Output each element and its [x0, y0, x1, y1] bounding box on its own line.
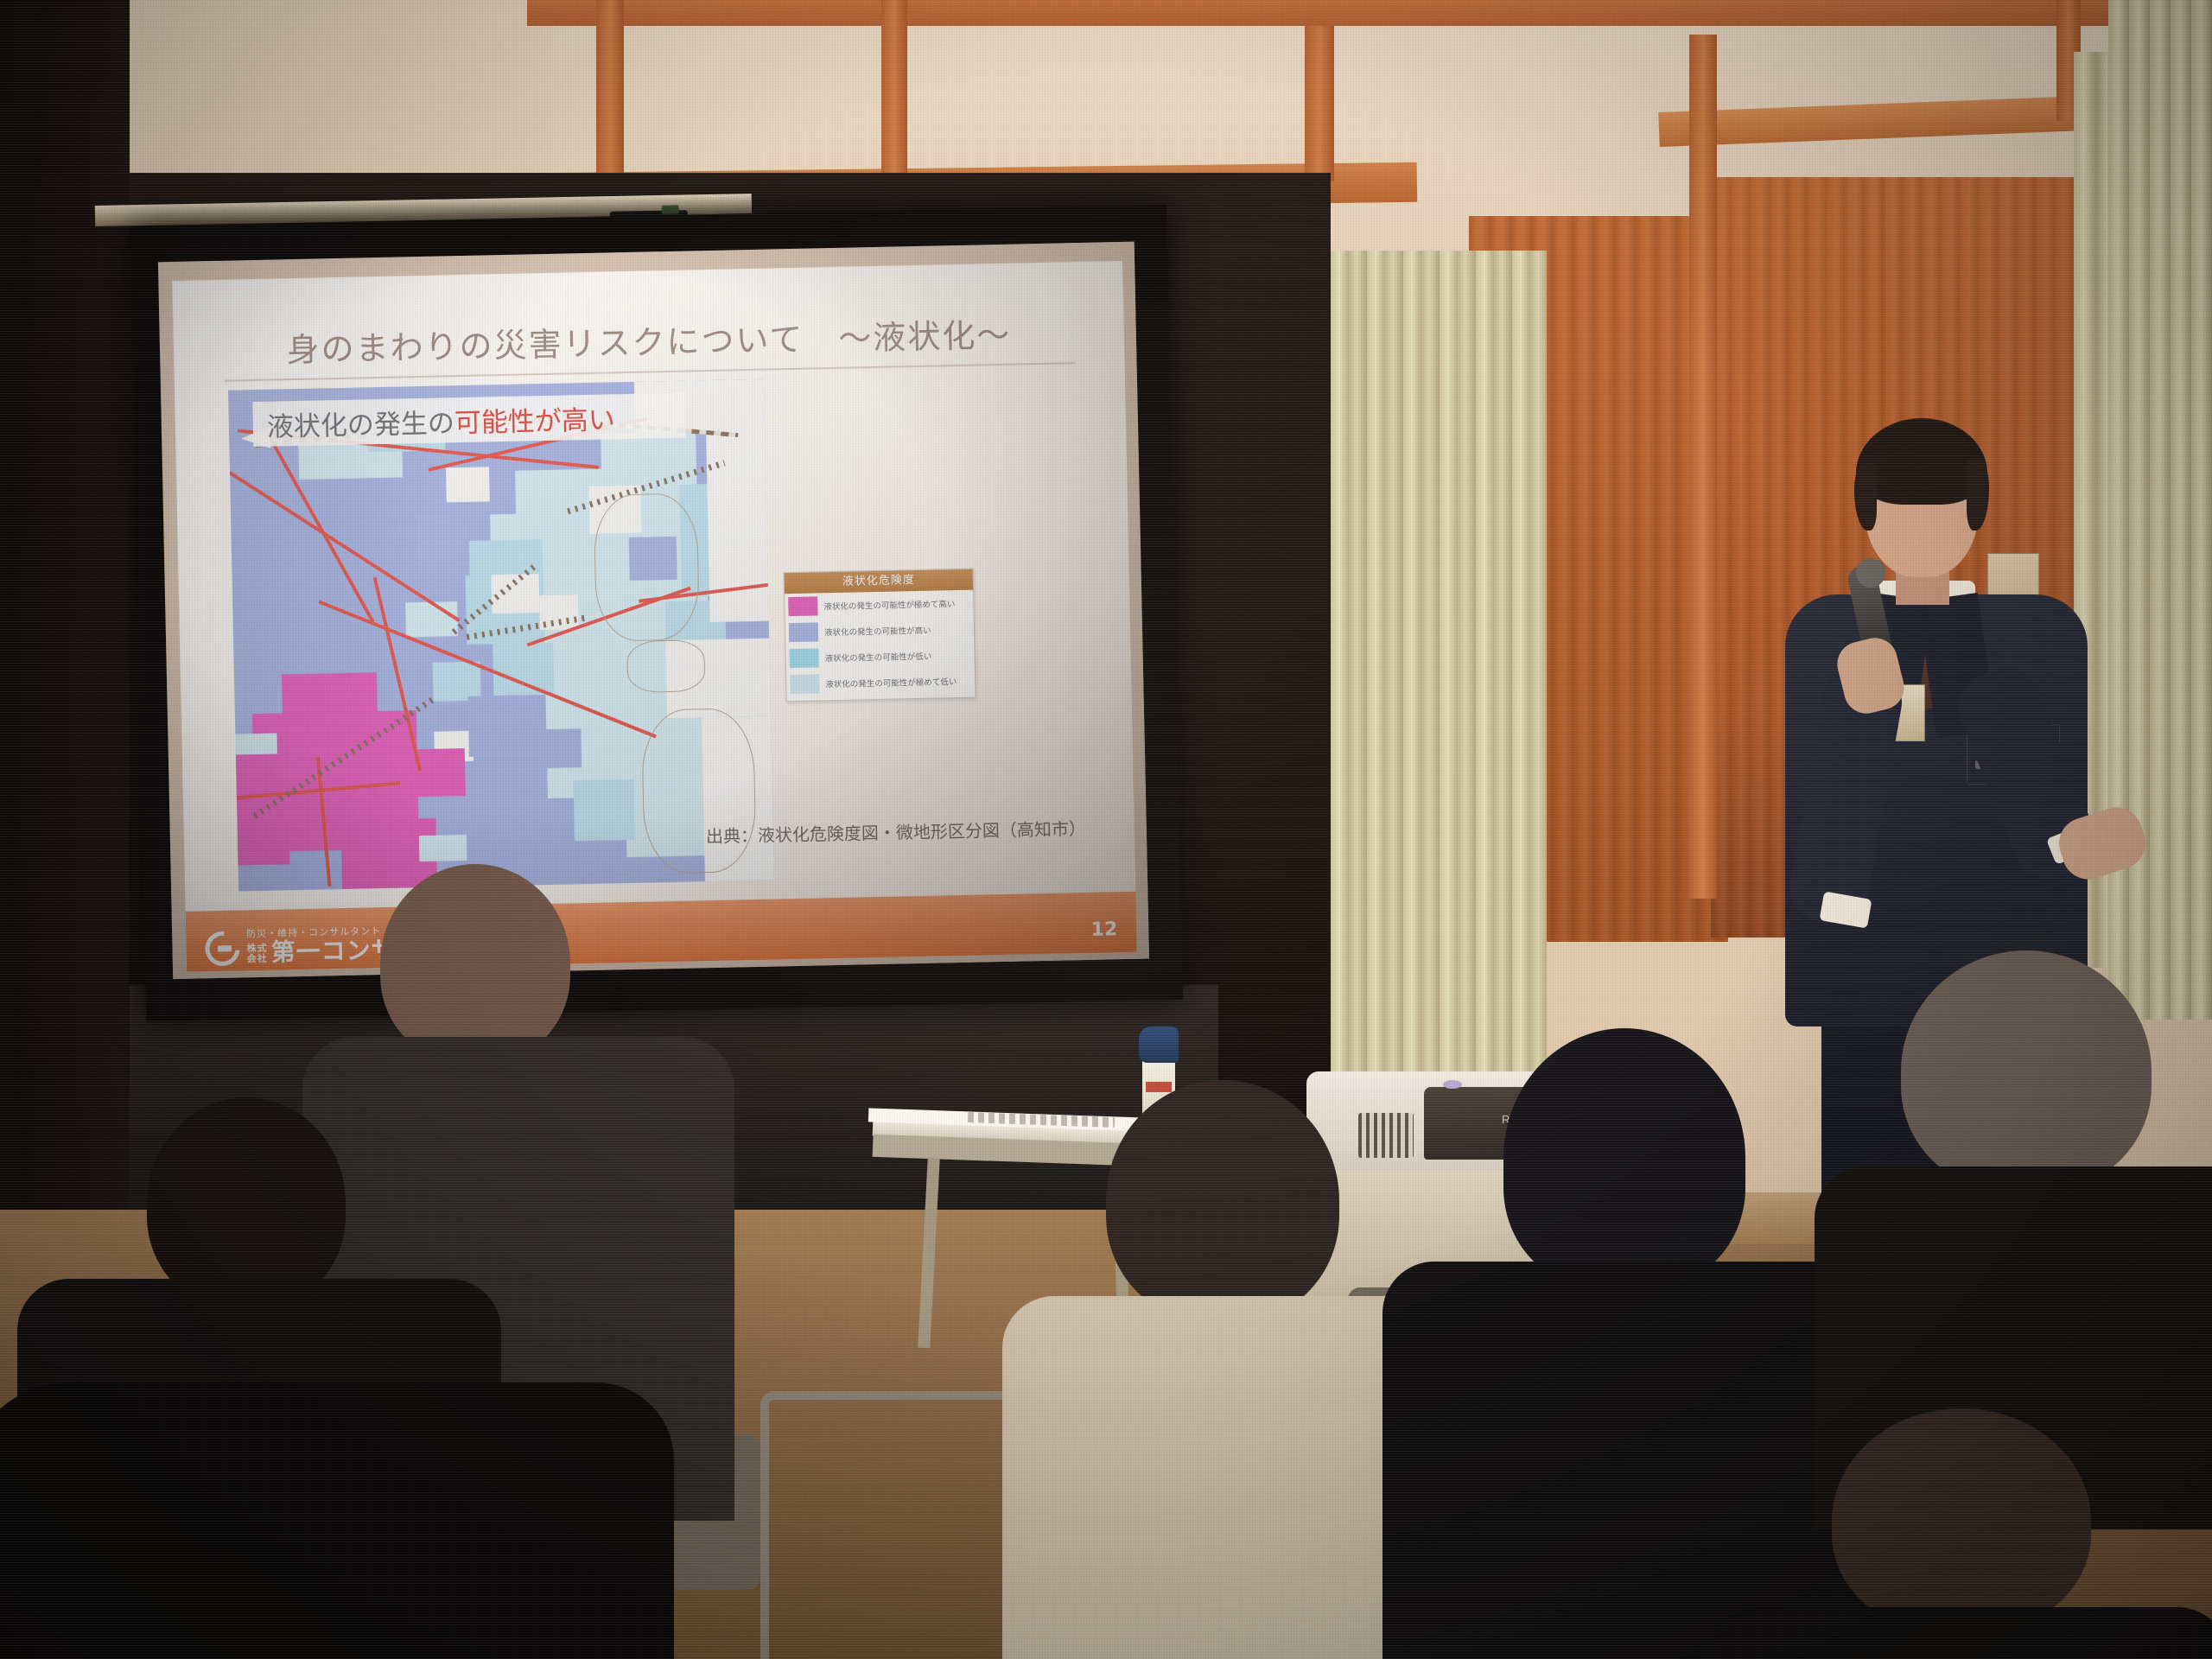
map-boundary: [626, 639, 705, 693]
presenter-hair-side-left: [1854, 463, 1877, 531]
slide-footer: 防災・維持・コンサルタント 株式 会社 第一コンサルタンツ 12: [186, 892, 1137, 972]
sanitizer-bottle-label: [1146, 1082, 1172, 1092]
projector-lens: [1443, 1080, 1462, 1089]
presentation-slide: 身のまわりの災害リスクについて ～液状化～: [172, 261, 1137, 972]
liquefaction-hazard-map: 液状化の発生の可能性が高い: [228, 379, 774, 892]
callout-prefix: 液状化の発生の: [266, 401, 454, 444]
legend-label: 液状化の発生の可能性が極めて高い: [823, 597, 955, 612]
map-boundary: [594, 493, 701, 641]
map-boundary: [641, 708, 757, 874]
logo-kk-mark: 株式 会社: [246, 944, 267, 964]
legend-swatch: [790, 674, 819, 694]
c-mark-logo-icon: [198, 925, 246, 972]
slide-page-number: 12: [1090, 918, 1117, 941]
wall-beam-vertical-3: [1305, 26, 1334, 181]
projector-vent: [1358, 1113, 1414, 1158]
legend-label: 液状化の発生の可能性が極めて低い: [825, 675, 957, 690]
legend-item: 液状化の発生の可能性が低い: [785, 642, 975, 672]
sanitizer-trigger-icon[interactable]: [1139, 1027, 1179, 1063]
map-callout: 液状化の発生の可能性が高い: [252, 393, 685, 447]
map-legend: 液状化危険度 液状化の発生の可能性が極めて高い 液状化の発生の可能性が高い 液状…: [784, 569, 976, 702]
screen-surface: 身のまわりの災害リスクについて ～液状化～: [158, 242, 1149, 979]
slide-title: 身のまわりの災害リスクについて ～液状化～: [173, 306, 1124, 373]
wall-beam-vertical-1: [596, 0, 624, 181]
legend-item: 液状化の発生の可能性が極めて低い: [786, 668, 976, 698]
curtain-left: [1331, 251, 1547, 1106]
lecture-room-photo: 身のまわりの災害リスクについて ～液状化～: [0, 0, 2212, 1659]
legend-swatch: [789, 648, 818, 668]
presenter-hair-side-right: [1967, 460, 1989, 531]
projection-screen: 身のまわりの災害リスクについて ～液状化～: [130, 205, 1183, 1021]
legend-item: 液状化の発生の可能性が高い: [785, 616, 975, 646]
ceiling-beam-horizontal: [527, 0, 2212, 26]
left-dark-wall: [0, 0, 130, 1313]
legend-swatch: [789, 622, 818, 642]
callout-highlight: 可能性が高い: [454, 397, 615, 440]
legend-swatch: [788, 596, 817, 616]
legend-item: 液状化の発生の可能性が極めて高い: [785, 590, 974, 620]
legend-label: 液状化の発生の可能性が高い: [824, 624, 931, 639]
legend-label: 液状化の発生の可能性が低い: [824, 650, 931, 664]
